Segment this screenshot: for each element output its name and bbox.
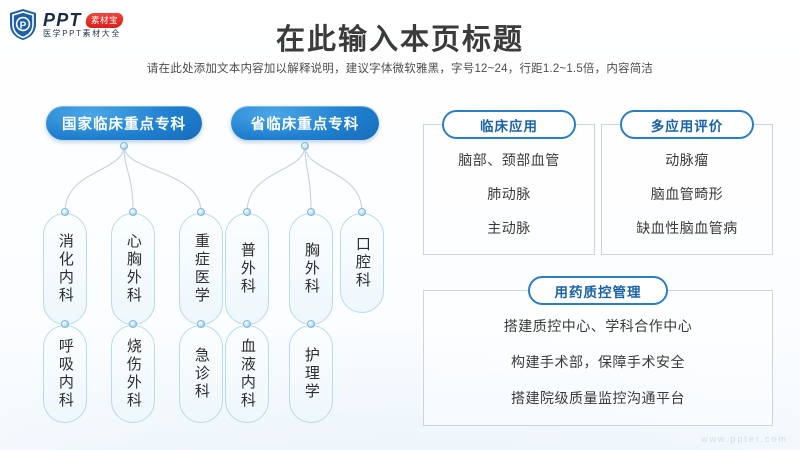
tree-leaf-label: 血液内科 (239, 338, 255, 410)
tree-group-header-0-label: 国家临床重点专科 (62, 113, 186, 134)
page-subtitle: 请在此处添加文本内容加以解释说明，建议字体微软雅黑，字号12~24，行距1.2~… (0, 60, 800, 76)
panel-header-0-label: 临床应用 (480, 115, 538, 135)
tree-group-header-0[interactable]: 国家临床重点专科 (46, 106, 202, 140)
tree-node-dot-root-1 (301, 142, 309, 150)
brand-tagline: 医学PPT素材大全 (43, 30, 123, 38)
tree-leaf-label: 护理学 (303, 347, 319, 401)
panel-line: 搭建院级质量监控沟通平台 (511, 388, 685, 408)
tree-leaf-1-0-top[interactable]: 普外科 (225, 213, 269, 325)
tree-leaf-label: 重症医学 (193, 233, 209, 305)
tree-node-dot-0-2 (197, 208, 205, 216)
panel-line: 肺动脉 (487, 184, 531, 204)
tree-node-dot-0-0 (61, 208, 69, 216)
tree-leaf-label: 烧伤外科 (125, 338, 141, 410)
panel-content-2: 搭建质控中心、学科合作中心 构建手术部，保障手术安全 搭建院级质量监控沟通平台 (423, 306, 773, 418)
tree-leaf-label: 心胸外科 (125, 233, 141, 305)
panel-line: 脑血管畸形 (651, 184, 724, 204)
panel-content-0: 脑部、颈部血管 肺动脉 主动脉 (423, 140, 595, 248)
tree-leaf-label: 消化内科 (57, 233, 73, 305)
tree-leaf-label: 普外科 (239, 242, 255, 296)
site-watermark: www.ppter.com (701, 434, 788, 444)
tree-leaf-label: 口腔科 (354, 236, 370, 290)
tree-node-dot-root-0 (120, 142, 128, 150)
panel-header-1[interactable]: 多应用评价 (620, 110, 754, 139)
tree-node-dot-1-2 (358, 208, 366, 216)
panel-line: 缺血性脑血管病 (636, 218, 738, 238)
tree-node-dot-1-0 (243, 208, 251, 216)
tree-node-dot-mid-1-1 (307, 320, 315, 328)
tree-leaf-label: 急诊科 (193, 347, 209, 401)
tree-leaf-0-1-top[interactable]: 心胸外科 (111, 213, 155, 325)
panel-line: 脑部、颈部血管 (458, 150, 560, 170)
panel-line: 动脉瘤 (665, 150, 709, 170)
tree-leaf-1-1-top[interactable]: 胸外科 (289, 213, 333, 325)
panel-content-1: 动脉瘤 脑血管畸形 缺血性脑血管病 (601, 140, 773, 248)
tree-leaf-1-2-top[interactable]: 口腔科 (340, 213, 384, 313)
panel-line: 构建手术部，保障手术安全 (511, 352, 685, 372)
brand-name: PPT (43, 11, 82, 29)
tree-leaf-1-0-bottom[interactable]: 血液内科 (225, 325, 269, 423)
tree-leaf-0-2-bottom[interactable]: 急诊科 (179, 325, 223, 423)
tree-node-dot-0-1 (129, 208, 137, 216)
panel-line: 搭建质控中心、学科合作中心 (504, 316, 693, 336)
tree-node-dot-mid-0-1 (129, 320, 137, 328)
brand-badge: 素材宝 (84, 13, 124, 28)
tree-leaf-label: 胸外科 (303, 242, 319, 296)
tree-group-header-1-label: 省临床重点专科 (251, 113, 360, 134)
tree-node-dot-mid-0-2 (197, 320, 205, 328)
panel-header-1-label: 多应用评价 (651, 115, 724, 135)
tree-leaf-0-0-top[interactable]: 消化内科 (43, 213, 87, 325)
panel-header-2[interactable]: 用药质控管理 (528, 276, 668, 305)
tree-leaf-label: 呼吸内科 (57, 338, 73, 410)
panel-header-0[interactable]: 临床应用 (442, 110, 576, 139)
tree-node-dot-1-1 (307, 208, 315, 216)
tree-leaf-0-0-bottom[interactable]: 呼吸内科 (43, 325, 87, 423)
brand-logo: P PPT 素材宝 医学PPT素材大全 (8, 8, 123, 41)
tree-node-dot-mid-0-0 (61, 320, 69, 328)
shield-p-icon: P (8, 8, 38, 41)
tree-leaf-0-2-top[interactable]: 重症医学 (179, 213, 223, 325)
tree-leaf-1-1-bottom[interactable]: 护理学 (289, 325, 333, 423)
panel-line: 主动脉 (487, 218, 531, 238)
tree-node-dot-mid-1-0 (243, 320, 251, 328)
panel-header-2-label: 用药质控管理 (555, 281, 642, 301)
svg-text:P: P (20, 20, 27, 31)
tree-group-header-1[interactable]: 省临床重点专科 (231, 106, 379, 140)
brand-text: PPT 素材宝 医学PPT素材大全 (43, 11, 123, 38)
tree-leaf-0-1-bottom[interactable]: 烧伤外科 (111, 325, 155, 423)
